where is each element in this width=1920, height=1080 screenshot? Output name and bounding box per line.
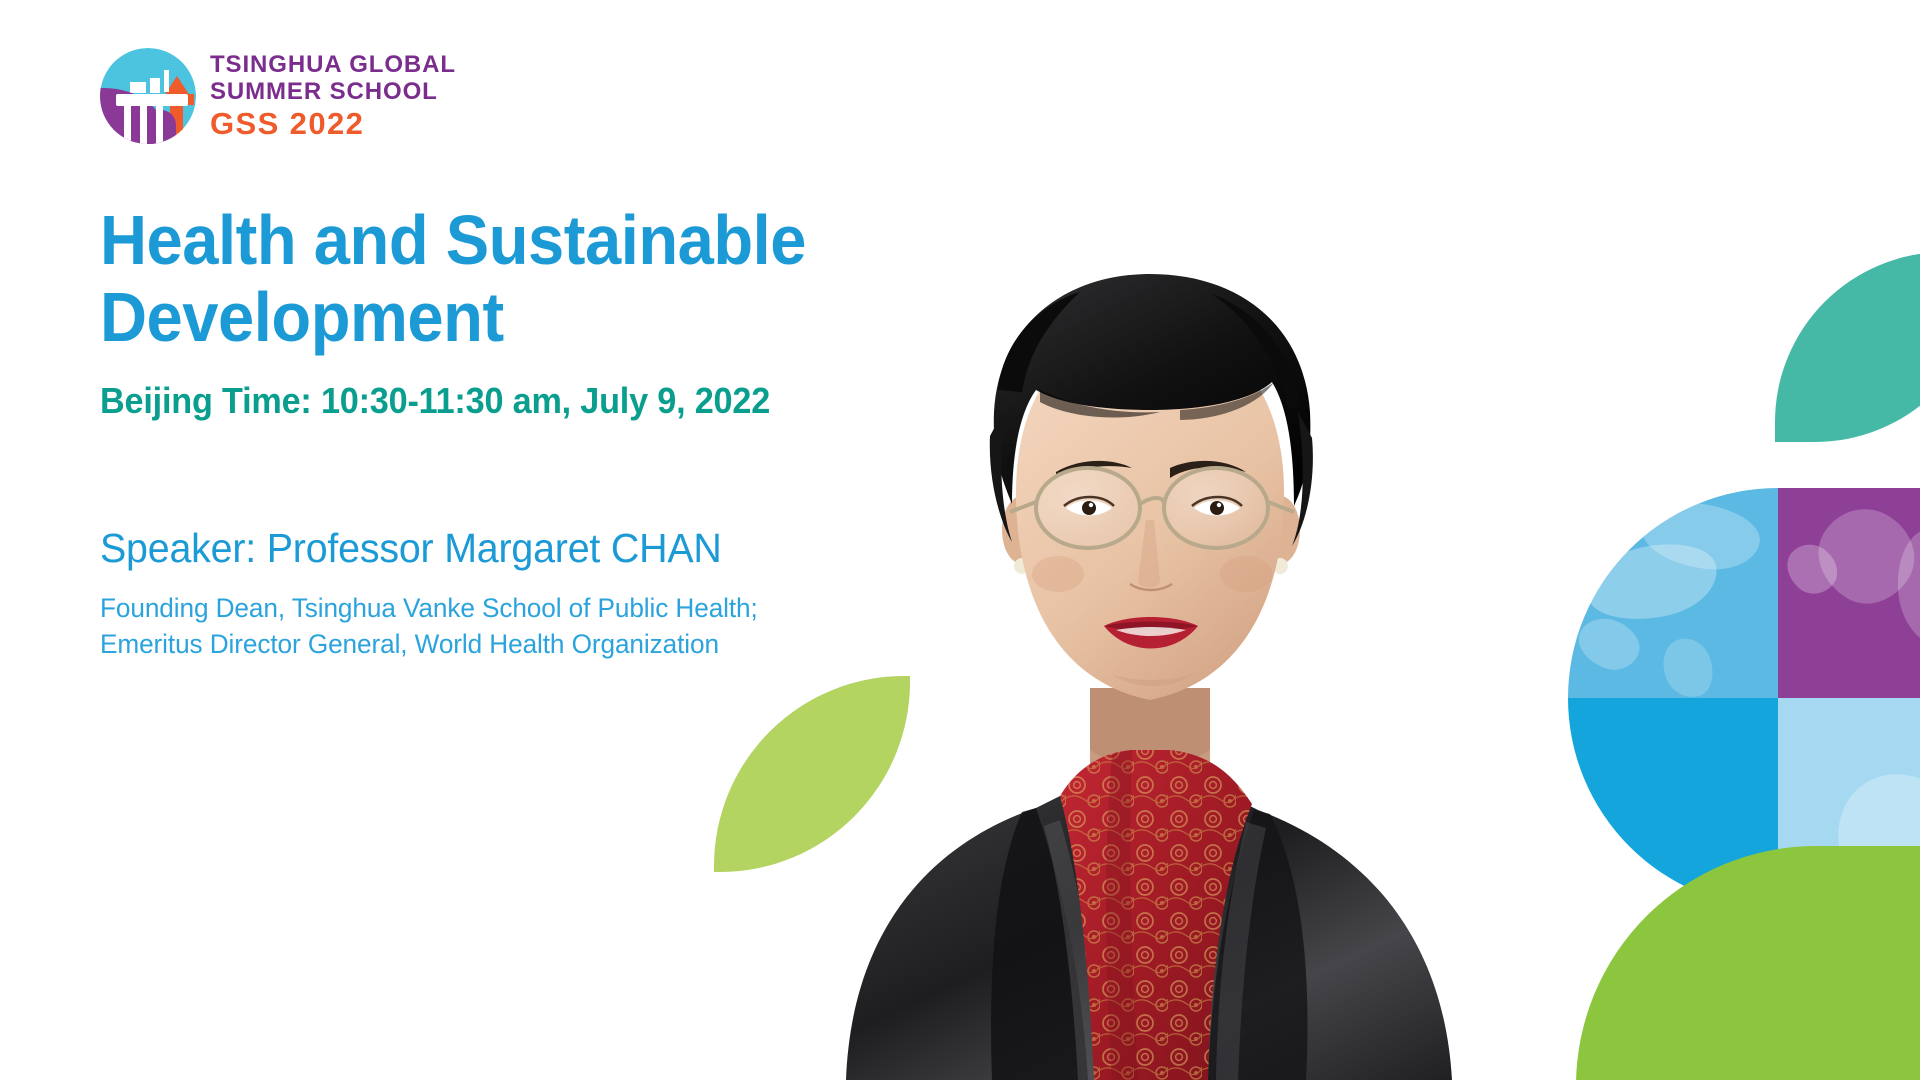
gss-logo: TSINGHUA GLOBAL SUMMER SCHOOL GSS 2022 <box>100 48 456 144</box>
speaker-name: Speaker: Professor Margaret CHAN <box>100 525 722 572</box>
wordmark-line-3: GSS 2022 <box>210 108 456 139</box>
globe-quadrant-top-left <box>1568 488 1778 698</box>
affiliation-line-2: Emeritus Director General, World Health … <box>100 626 758 662</box>
gss-circular-emblem-icon <box>100 48 196 144</box>
banner-canvas: TSINGHUA GLOBAL SUMMER SCHOOL GSS 2022 H… <box>0 0 1920 1080</box>
wordmark-line-1: TSINGHUA GLOBAL <box>210 53 456 77</box>
page-title: Health and Sustainable Development <box>100 202 881 356</box>
globe-quadrants-graphic <box>1568 488 1920 908</box>
affiliation-line-1: Founding Dean, Tsinghua Vanke School of … <box>100 590 758 626</box>
event-time: Beijing Time: 10:30-11:30 am, July 9, 20… <box>100 380 770 422</box>
teal-leaf-shape <box>1775 252 1920 442</box>
wordmark-line-2: SUMMER SCHOOL <box>210 80 456 104</box>
speaker-affiliation: Founding Dean, Tsinghua Vanke School of … <box>100 590 758 662</box>
globe-quadrant-top-right <box>1778 488 1920 698</box>
gss-wordmark: TSINGHUA GLOBAL SUMMER SCHOOL GSS 2022 <box>210 53 456 139</box>
